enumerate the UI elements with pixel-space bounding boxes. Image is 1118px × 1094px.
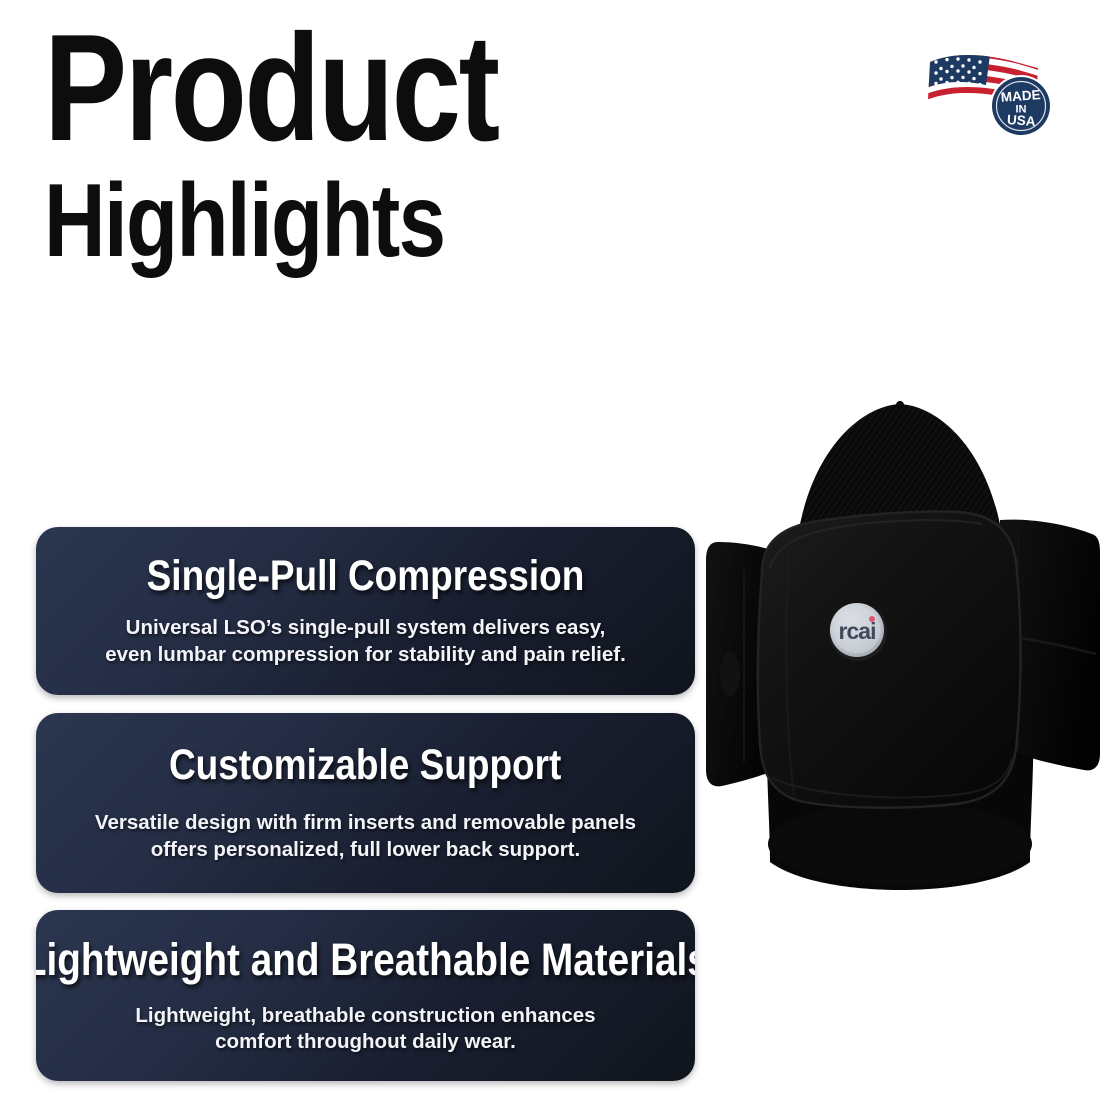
feature-card-title: Lightweight and Breathable Materials xyxy=(36,936,695,983)
feature-card[interactable]: Lightweight and Breathable Materials Lig… xyxy=(36,910,695,1081)
svg-text:rcai: rcai xyxy=(839,618,876,644)
feature-card-body: Lightweight, breathable construction enh… xyxy=(113,1003,617,1055)
feature-card-title: Single-Pull Compression xyxy=(147,554,585,599)
product-image-back-brace: rcai xyxy=(700,392,1100,892)
feature-card-body: Universal LSO’s single-pull system deliv… xyxy=(83,615,648,667)
made-in-usa-seal-icon: MADE IN USA xyxy=(990,75,1052,137)
svg-text:MADE: MADE xyxy=(1000,87,1041,105)
page-title-secondary: Highlights xyxy=(44,169,536,273)
feature-card-title: Customizable Support xyxy=(169,743,561,788)
page-title-primary: Product xyxy=(44,14,536,163)
feature-card[interactable]: Single-Pull Compression Universal LSO’s … xyxy=(36,527,695,695)
feature-card-body: Versatile design with firm inserts and r… xyxy=(73,810,658,862)
rcai-logo-icon: rcai xyxy=(829,603,887,661)
svg-text:USA: USA xyxy=(1007,112,1037,129)
feature-card[interactable]: Customizable Support Versatile design wi… xyxy=(36,713,695,893)
page-heading: Product Highlights xyxy=(44,14,644,273)
made-in-usa-badge: MADE IN USA xyxy=(924,44,1056,144)
brace-front-panel xyxy=(758,512,1021,808)
